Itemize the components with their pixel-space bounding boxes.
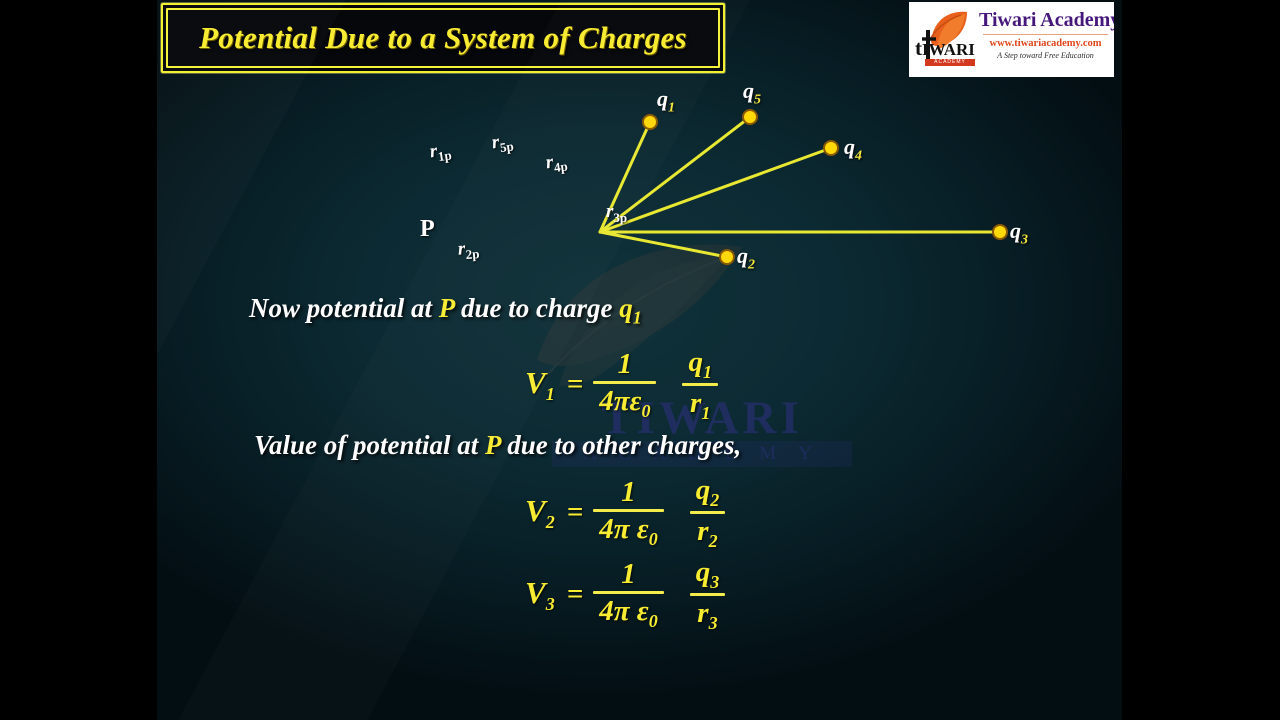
sentence-highlight-q1: q1 xyxy=(619,293,642,323)
fraction-numerator: 1 xyxy=(615,478,642,509)
charge-dot-q1 xyxy=(643,115,657,129)
equals-sign: = xyxy=(567,368,584,401)
equation-lhs: V1 xyxy=(525,365,555,405)
fraction-numerator: 1 xyxy=(615,560,642,591)
ray-to-q5 xyxy=(600,117,750,232)
equation-lhs-symbol: V xyxy=(525,575,546,610)
fraction-denominator: r3 xyxy=(691,596,723,632)
sentence-symbol: q xyxy=(619,293,633,323)
denominator-subscript: 2 xyxy=(709,531,718,551)
charge-dots xyxy=(643,110,1007,264)
equation-lhs-subscript: 2 xyxy=(546,512,555,532)
equation-lhs-symbol: V xyxy=(525,365,546,400)
numerator-subscript: 3 xyxy=(710,572,719,592)
equation-lhs: V2 xyxy=(525,493,555,533)
fraction-denominator: 4π ε0 xyxy=(593,594,663,630)
fraction-numerator: q3 xyxy=(690,558,726,593)
fraction-numerator: q1 xyxy=(682,348,718,383)
equals-sign: = xyxy=(567,578,584,611)
slide-canvas: TIWARI A C A D E M Y Potential Due to a … xyxy=(157,0,1122,720)
sentence-subscript: 1 xyxy=(633,307,642,327)
numerator-subscript: 1 xyxy=(703,362,712,382)
fraction-charge-over-distance: q1 r1 xyxy=(682,348,718,422)
numerator-text: q xyxy=(696,556,711,588)
point-p-label: P xyxy=(420,216,435,243)
equation-v1: V1 = 1 4πε0 q1 r1 xyxy=(525,348,718,422)
fraction-charge-over-distance: q2 r2 xyxy=(690,476,726,550)
denominator-text: r xyxy=(697,515,708,547)
denominator-subscript: 0 xyxy=(649,611,658,631)
charge-dot-q4 xyxy=(824,141,838,155)
screenshot-root: TIWARI A C A D E M Y Potential Due to a … xyxy=(0,0,1280,720)
distance-rays xyxy=(600,117,1000,257)
sentence-part: Now potential at xyxy=(249,293,439,323)
fraction-numerator: 1 xyxy=(612,350,639,381)
sentence-part: Value of potential at xyxy=(254,430,485,460)
sentence-highlight-p: P xyxy=(485,430,501,460)
numerator-text: q xyxy=(696,474,711,506)
ray-to-q4 xyxy=(600,148,831,232)
text-line-other-charges: Value of potential at P due to other cha… xyxy=(254,430,741,461)
denominator-text: r xyxy=(690,387,701,419)
right-pillarbox xyxy=(1122,0,1280,720)
fraction-denominator: 4πε0 xyxy=(593,384,656,420)
equation-v3: V3 = 1 4π ε0 q3 r3 xyxy=(525,558,725,632)
denominator-text: 4π ε xyxy=(599,513,648,545)
equation-lhs-symbol: V xyxy=(525,493,546,528)
denominator-subscript: 0 xyxy=(649,529,658,549)
numerator-subscript: 2 xyxy=(710,490,719,510)
fraction-denominator: 4π ε0 xyxy=(593,512,663,548)
sentence-highlight-p: P xyxy=(439,293,455,323)
fraction-denominator: r2 xyxy=(691,514,723,550)
fraction-charge-over-distance: q3 r3 xyxy=(690,558,726,632)
charge-dot-q5 xyxy=(743,110,757,124)
denominator-text: 4π ε xyxy=(599,595,648,627)
sentence-part: due to charge xyxy=(454,293,619,323)
fraction-coulomb-constant: 1 4π ε0 xyxy=(593,560,663,630)
fraction-numerator: q2 xyxy=(690,476,726,511)
sentence-part: due to other charges, xyxy=(501,430,742,460)
fraction-coulomb-constant: 1 4πε0 xyxy=(593,350,656,420)
charge-dot-q2 xyxy=(720,250,734,264)
page-title: Potential Due to a System of Charges xyxy=(199,20,687,56)
equation-lhs-subscript: 3 xyxy=(546,594,555,614)
denominator-subscript: 0 xyxy=(641,401,650,421)
equation-lhs-subscript: 1 xyxy=(546,384,555,404)
fraction-denominator: r1 xyxy=(684,386,716,422)
denominator-text: r xyxy=(697,597,708,629)
fraction-coulomb-constant: 1 4π ε0 xyxy=(593,478,663,548)
left-pillarbox xyxy=(0,0,157,720)
charge-dot-q3 xyxy=(993,225,1007,239)
numerator-text: q xyxy=(688,346,703,378)
denominator-subscript: 1 xyxy=(701,403,710,423)
text-line-charge-q1: Now potential at P due to charge q1 xyxy=(249,293,642,328)
equation-v2: V2 = 1 4π ε0 q2 r2 xyxy=(525,476,725,550)
equation-lhs: V3 xyxy=(525,575,555,615)
equals-sign: = xyxy=(567,496,584,529)
ray-to-q2 xyxy=(600,232,727,257)
denominator-subscript: 3 xyxy=(709,613,718,633)
denominator-text: 4πε xyxy=(599,385,641,417)
